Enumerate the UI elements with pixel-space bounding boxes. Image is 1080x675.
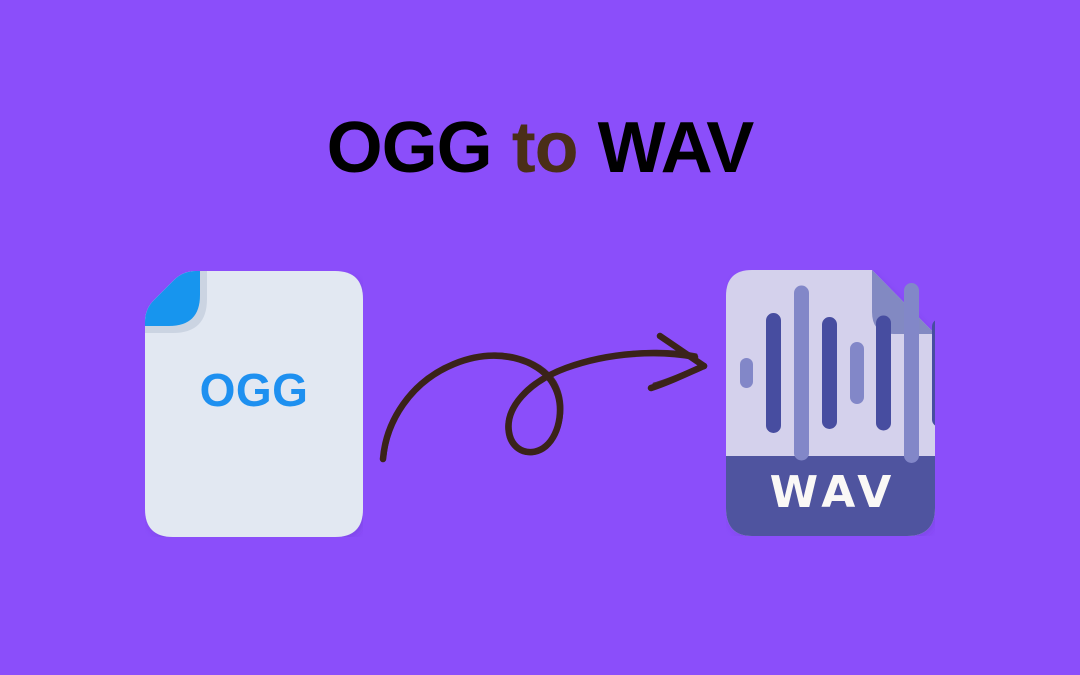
waveform-bar: [904, 283, 919, 463]
waveform-bar: [766, 313, 781, 433]
page-title: OGG to WAV: [0, 112, 1080, 184]
waveform-bar: [932, 319, 935, 427]
arrow-drawing: [370, 326, 715, 476]
ogg-format-label: OGG: [145, 363, 363, 417]
wav-format-label: WAV: [726, 467, 935, 518]
ogg-fold-corner: [145, 271, 200, 326]
title-space-1: [492, 108, 512, 188]
title-source-format: OGG: [327, 108, 492, 188]
waveform-bar: [822, 317, 837, 429]
waveform-bar: [876, 316, 891, 431]
arrow-main-stroke: [383, 353, 695, 459]
curved-loop-arrow-icon: [370, 326, 715, 476]
waveform-bar: [794, 286, 809, 461]
conversion-graphic-canvas: OGG to WAV OGG: [0, 0, 1080, 675]
waveform-bar: [740, 358, 753, 388]
waveform-bar: [850, 342, 864, 404]
wav-file-icon: WAV: [726, 270, 935, 536]
title-space-2: [578, 108, 598, 188]
ogg-file-icon: OGG: [145, 271, 363, 537]
title-connector: to: [512, 108, 578, 188]
arrow-head-lower-barb-sketch: [654, 365, 703, 384]
arrow-sketch-stroke: [385, 351, 696, 455]
title-target-format: WAV: [598, 108, 754, 188]
